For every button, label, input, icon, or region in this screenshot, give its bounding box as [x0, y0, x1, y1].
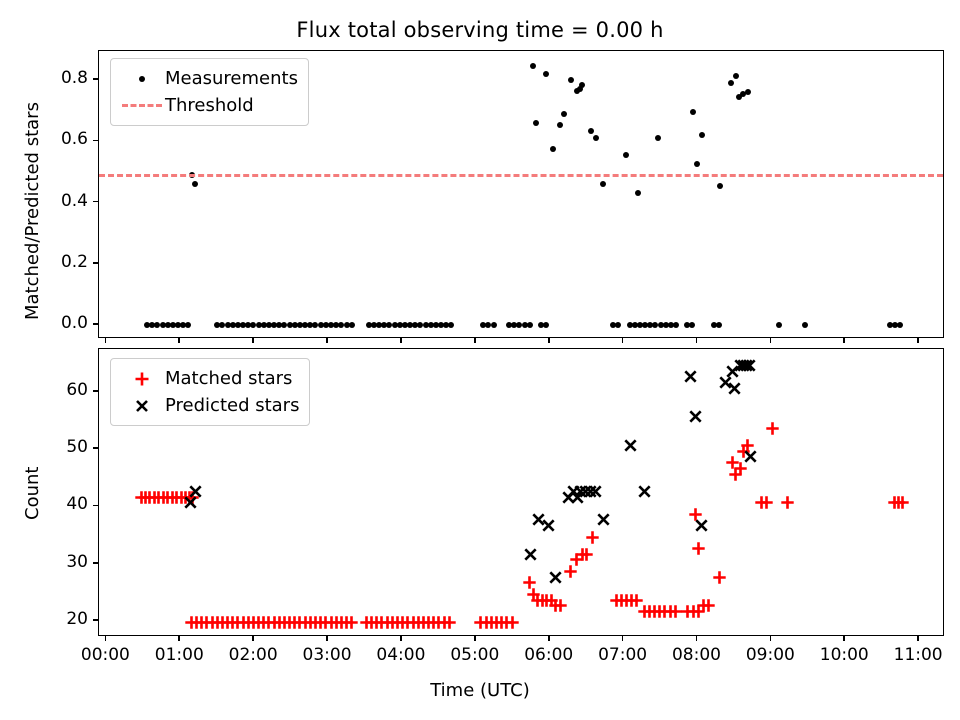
measurement-point — [550, 146, 556, 152]
measurement-point — [328, 322, 334, 328]
matched-star-point — [490, 614, 503, 627]
matplotlib-figure: Flux total observing time = 0.00 h Match… — [0, 0, 960, 720]
measurement-point — [655, 135, 661, 141]
matched-star-point — [365, 614, 378, 627]
measurement-point — [344, 322, 350, 328]
measurement-point — [668, 322, 674, 328]
matched-star-point — [781, 494, 794, 507]
matched-star-point — [268, 614, 281, 627]
measurement-point — [652, 322, 658, 328]
measurement-point — [480, 322, 486, 328]
legend-label-threshold: Threshold — [165, 95, 254, 116]
matched-star-point — [391, 614, 404, 627]
figure-title: Flux total observing time = 0.00 h — [0, 18, 960, 42]
x-tick-mark — [622, 338, 624, 343]
matched-star-point — [586, 529, 599, 542]
predicted-star-point — [597, 511, 610, 524]
measurement-point — [185, 322, 191, 328]
measurement-point — [192, 181, 198, 187]
matched-star-point — [370, 614, 383, 627]
x-tick-mark — [770, 338, 772, 343]
matched-star-point — [242, 614, 255, 627]
threshold-line — [99, 174, 943, 177]
measurement-point — [230, 322, 236, 328]
x-tick-mark — [696, 636, 698, 641]
matched-star-point — [692, 603, 705, 616]
cross-marker-icon — [119, 398, 165, 414]
x-tick-mark — [843, 636, 845, 641]
predicted-star-point — [624, 437, 637, 450]
matched-star-point — [407, 614, 420, 627]
matched-star-point — [152, 489, 165, 502]
x-tick-mark — [105, 636, 107, 641]
predicted-star-point — [728, 380, 741, 393]
matched-star-point — [200, 614, 213, 627]
matched-star-point — [500, 614, 513, 627]
measurement-point — [623, 152, 629, 158]
matched-star-point — [190, 614, 203, 627]
matched-star-point — [580, 546, 593, 559]
matched-star-point — [760, 494, 773, 507]
x-tick-mark — [105, 338, 107, 343]
matched-star-point — [658, 603, 671, 616]
measurement-point — [392, 322, 398, 328]
x-tick-mark — [548, 636, 550, 641]
measurement-point — [574, 88, 580, 94]
measurement-point — [557, 122, 563, 128]
predicted-star-point — [689, 408, 702, 421]
measurement-point — [312, 322, 318, 328]
predicted-star-point — [589, 483, 602, 496]
measurement-point — [615, 322, 621, 328]
x-tick-mark — [400, 338, 402, 343]
measurement-point — [637, 322, 643, 328]
matched-star-point — [166, 489, 179, 502]
matched-star-point — [726, 454, 739, 467]
measurement-point — [892, 322, 898, 328]
matched-star-point — [195, 614, 208, 627]
measurement-point — [728, 80, 734, 86]
matched-star-point — [170, 489, 183, 502]
measurement-point — [276, 322, 282, 328]
matched-star-point — [427, 614, 440, 627]
measurement-point — [627, 322, 633, 328]
measurement-point — [323, 322, 329, 328]
matched-star-point — [896, 494, 909, 507]
matched-star-point — [304, 614, 317, 627]
matched-star-point — [252, 614, 265, 627]
matched-star-point — [523, 574, 536, 587]
measurement-point — [225, 322, 231, 328]
matched-star-point — [697, 597, 710, 610]
measurement-point — [533, 120, 539, 126]
measurement-point — [632, 322, 638, 328]
measurement-point — [349, 322, 355, 328]
measurement-point — [381, 322, 387, 328]
matched-star-point — [135, 489, 148, 502]
predicted-star-point — [542, 517, 555, 530]
predicted-star-point — [549, 569, 562, 582]
measurement-point — [407, 322, 413, 328]
matched-star-point — [570, 551, 583, 564]
measurement-point — [745, 89, 751, 95]
measurement-point — [511, 322, 517, 328]
measurement-point — [235, 322, 241, 328]
matched-star-point — [161, 489, 174, 502]
measurement-point — [887, 322, 893, 328]
x-tick-mark — [843, 338, 845, 343]
matched-star-point — [630, 592, 643, 605]
y-tick-mark — [93, 323, 98, 325]
matched-star-point — [179, 489, 192, 502]
measurement-point — [690, 109, 696, 115]
matched-star-point — [545, 592, 558, 605]
matched-star-point — [687, 603, 700, 616]
matched-star-point — [506, 614, 519, 627]
matched-star-point — [610, 592, 623, 605]
ratio-panel-legend: Measurements Threshold — [110, 58, 309, 126]
measurement-point — [658, 322, 664, 328]
matched-star-point — [554, 597, 567, 610]
measurement-point — [318, 322, 324, 328]
x-tick-label: 11:00 — [873, 645, 960, 665]
measurement-point — [642, 322, 648, 328]
measurement-point — [663, 322, 669, 328]
matched-star-point — [625, 592, 638, 605]
y-tick-mark — [93, 447, 98, 449]
legend-label-predicted-stars: Predicted stars — [165, 395, 299, 416]
y-tick-label: 20 — [2, 609, 88, 629]
matched-star-point — [396, 614, 409, 627]
matched-star-point — [669, 603, 682, 616]
matched-star-point — [288, 614, 301, 627]
measurement-point — [491, 322, 497, 328]
measurement-point — [338, 322, 344, 328]
matched-star-point — [139, 489, 152, 502]
matched-star-point — [360, 614, 373, 627]
matched-star-point — [643, 603, 656, 616]
predicted-star-point — [744, 448, 757, 461]
x-tick-mark — [696, 338, 698, 343]
predicted-star-point — [584, 483, 597, 496]
legend-item-measurements[interactable]: Measurements — [119, 65, 298, 92]
predicted-star-point — [684, 368, 697, 381]
matched-star-point — [319, 614, 332, 627]
predicted-star-point — [571, 489, 584, 502]
measurement-point — [149, 322, 155, 328]
predicted-star-point — [638, 483, 651, 496]
measurement-point — [443, 322, 449, 328]
measurement-point — [485, 322, 491, 328]
measurement-point — [733, 73, 739, 79]
measurement-point — [302, 322, 308, 328]
measurement-point — [689, 322, 695, 328]
measurement-point — [307, 322, 313, 328]
predicted-star-point — [184, 494, 197, 507]
measurement-point — [250, 322, 256, 328]
measurement-point — [433, 322, 439, 328]
legend-label-measurements: Measurements — [165, 68, 298, 89]
measurement-point — [684, 322, 690, 328]
matched-star-point — [309, 614, 322, 627]
matched-star-point — [175, 489, 188, 502]
measurement-point — [214, 322, 220, 328]
matched-star-point — [638, 603, 651, 616]
measurement-point — [297, 322, 303, 328]
matched-star-point — [216, 614, 229, 627]
predicted-star-point — [579, 483, 592, 496]
matched-star-point — [183, 489, 196, 502]
matched-star-point — [381, 614, 394, 627]
matched-star-point — [692, 540, 705, 553]
y-tick-mark — [93, 201, 98, 203]
y-tick-label: 0.6 — [2, 129, 88, 149]
measurement-point — [175, 322, 181, 328]
matched-star-point — [531, 592, 544, 605]
matched-star-point — [148, 489, 161, 502]
measurement-point — [287, 322, 293, 328]
measurement-point — [144, 322, 150, 328]
y-tick-mark — [93, 262, 98, 264]
y-tick-mark — [93, 505, 98, 507]
matched-star-point — [299, 614, 312, 627]
matched-star-point — [888, 494, 901, 507]
measurement-point — [736, 94, 742, 100]
matched-star-point — [737, 443, 750, 456]
matched-star-point — [226, 614, 239, 627]
legend-item-threshold[interactable]: Threshold — [119, 92, 298, 119]
x-tick-mark — [178, 636, 180, 641]
matched-star-point — [485, 614, 498, 627]
count-panel-legend: Matched stars Predicted stars — [110, 358, 310, 426]
matched-star-point — [401, 614, 414, 627]
matched-star-point — [480, 614, 493, 627]
predicted-star-point — [719, 374, 732, 387]
measurement-point — [412, 322, 418, 328]
x-tick-mark — [622, 636, 624, 641]
x-tick-mark — [326, 636, 328, 641]
measurement-point — [256, 322, 262, 328]
measurement-point — [593, 135, 599, 141]
matched-star-point — [262, 614, 275, 627]
plus-marker-icon — [119, 371, 165, 387]
predicted-star-point — [726, 363, 739, 376]
matched-star-point — [412, 614, 425, 627]
matched-star-point — [536, 592, 549, 605]
measurement-point — [240, 322, 246, 328]
measurement-point — [716, 322, 722, 328]
matched-star-point — [185, 614, 198, 627]
measurement-point — [423, 322, 429, 328]
measurement-point — [386, 322, 392, 328]
predicted-star-point — [524, 546, 537, 559]
matched-star-point — [527, 586, 540, 599]
matched-star-point — [653, 603, 666, 616]
measurement-point — [448, 322, 454, 328]
matched-star-point — [325, 614, 338, 627]
y-tick-label: 0.2 — [2, 252, 88, 272]
measurement-point — [699, 132, 705, 138]
matched-star-point — [892, 494, 905, 507]
measurement-point — [740, 91, 746, 97]
measurement-point — [180, 322, 186, 328]
measurement-point — [600, 181, 606, 187]
y-tick-label: 0.8 — [2, 68, 88, 88]
predicted-star-point — [532, 511, 545, 524]
x-tick-mark — [400, 636, 402, 641]
y-tick-mark — [93, 562, 98, 564]
x-tick-mark — [326, 338, 328, 343]
matched-star-point — [564, 563, 577, 576]
y-tick-label: 50 — [2, 437, 88, 457]
measurement-point — [165, 322, 171, 328]
matched-star-point — [734, 460, 747, 473]
measurement-point — [438, 322, 444, 328]
measurement-point — [776, 322, 782, 328]
y-tick-mark — [93, 390, 98, 392]
y-tick-label: 0.4 — [2, 191, 88, 211]
measurement-point — [543, 322, 549, 328]
measurement-point — [371, 322, 377, 328]
measurement-point — [577, 86, 583, 92]
matched-star-point — [540, 592, 553, 605]
y-tick-mark — [93, 140, 98, 142]
matched-star-point — [330, 614, 343, 627]
matched-star-point — [273, 614, 286, 627]
matched-star-point — [729, 466, 742, 479]
y-tick-label: 0.0 — [2, 313, 88, 333]
matched-star-point — [443, 614, 456, 627]
measurement-point — [610, 322, 616, 328]
matched-star-point — [495, 614, 508, 627]
measurement-point — [897, 322, 903, 328]
measurement-point — [568, 77, 574, 83]
measurement-point — [635, 190, 641, 196]
measurement-point — [673, 322, 679, 328]
matched-star-point — [206, 614, 219, 627]
measurement-point — [516, 322, 522, 328]
measurement-point — [538, 322, 544, 328]
measurement-point — [333, 322, 339, 328]
matched-star-point — [157, 489, 170, 502]
measurement-point — [160, 322, 166, 328]
measurement-point — [245, 322, 251, 328]
measurement-point — [647, 322, 653, 328]
matched-star-point — [257, 614, 270, 627]
measurement-point — [522, 322, 528, 328]
x-tick-mark — [474, 338, 476, 343]
y-tick-mark — [93, 619, 98, 621]
measurement-point — [170, 322, 176, 328]
matched-star-point — [755, 494, 768, 507]
measurement-point — [154, 322, 160, 328]
matched-star-point — [432, 614, 445, 627]
legend-label-matched-stars: Matched stars — [165, 368, 292, 389]
matched-star-point — [314, 614, 327, 627]
measurement-point — [579, 82, 585, 88]
measurement-point — [588, 128, 594, 134]
measurement-point — [694, 161, 700, 167]
legend-item-matched-stars[interactable]: Matched stars — [119, 365, 299, 392]
x-tick-mark — [252, 636, 254, 641]
x-tick-mark — [917, 636, 919, 641]
matched-star-point — [681, 603, 694, 616]
predicted-star-point — [740, 357, 753, 370]
measurement-point — [802, 322, 808, 328]
x-tick-mark — [770, 636, 772, 641]
matched-star-point — [247, 614, 260, 627]
predicted-star-point — [562, 489, 575, 502]
y-tick-mark — [93, 78, 98, 80]
predicted-star-point — [695, 517, 708, 530]
predicted-star-point — [567, 483, 580, 496]
threshold-dash-icon — [119, 104, 165, 107]
matched-star-point — [576, 546, 589, 559]
measurement-point — [376, 322, 382, 328]
matched-star-point — [283, 614, 296, 627]
measurement-point — [281, 322, 287, 328]
y-tick-label: 30 — [2, 552, 88, 572]
x-tick-mark — [252, 338, 254, 343]
measurement-point — [397, 322, 403, 328]
predicted-star-point — [743, 357, 756, 370]
matched-star-point — [474, 614, 487, 627]
legend-item-predicted-stars[interactable]: Predicted stars — [119, 392, 299, 419]
predicted-star-point — [734, 357, 747, 370]
predicted-star-point — [189, 483, 202, 496]
matched-star-point — [549, 597, 562, 610]
measurement-point — [711, 322, 717, 328]
matched-star-point — [335, 614, 348, 627]
measurement-point — [271, 322, 277, 328]
y-tick-label: 60 — [2, 380, 88, 400]
matched-star-point — [186, 489, 199, 502]
matched-star-point — [438, 614, 451, 627]
measurement-point — [717, 183, 723, 189]
matched-star-point — [422, 614, 435, 627]
matched-star-point — [211, 614, 224, 627]
measurement-point — [219, 322, 225, 328]
x-axis-label: Time (UTC) — [0, 680, 960, 701]
measurement-point — [266, 322, 272, 328]
matched-star-point — [221, 614, 234, 627]
measurement-point — [530, 63, 536, 69]
matched-star-point — [702, 597, 715, 610]
measurement-point — [561, 111, 567, 117]
matched-star-point — [340, 614, 353, 627]
measurement-point — [366, 322, 372, 328]
measurement-point — [428, 322, 434, 328]
measurement-point — [527, 322, 533, 328]
matched-star-point — [713, 569, 726, 582]
matched-star-point — [143, 489, 156, 502]
measurement-dot-icon — [119, 76, 165, 82]
y-tick-label: 40 — [2, 494, 88, 514]
matched-star-point — [278, 614, 291, 627]
measurement-point — [261, 322, 267, 328]
matched-star-point — [345, 614, 358, 627]
x-tick-mark — [548, 338, 550, 343]
measurement-point — [417, 322, 423, 328]
matched-star-point — [766, 420, 779, 433]
matched-star-point — [386, 614, 399, 627]
x-tick-mark — [917, 338, 919, 343]
measurement-point — [543, 71, 549, 77]
matched-star-point — [664, 603, 677, 616]
matched-star-point — [231, 614, 244, 627]
matched-star-point — [417, 614, 430, 627]
matched-star-point — [689, 506, 702, 519]
